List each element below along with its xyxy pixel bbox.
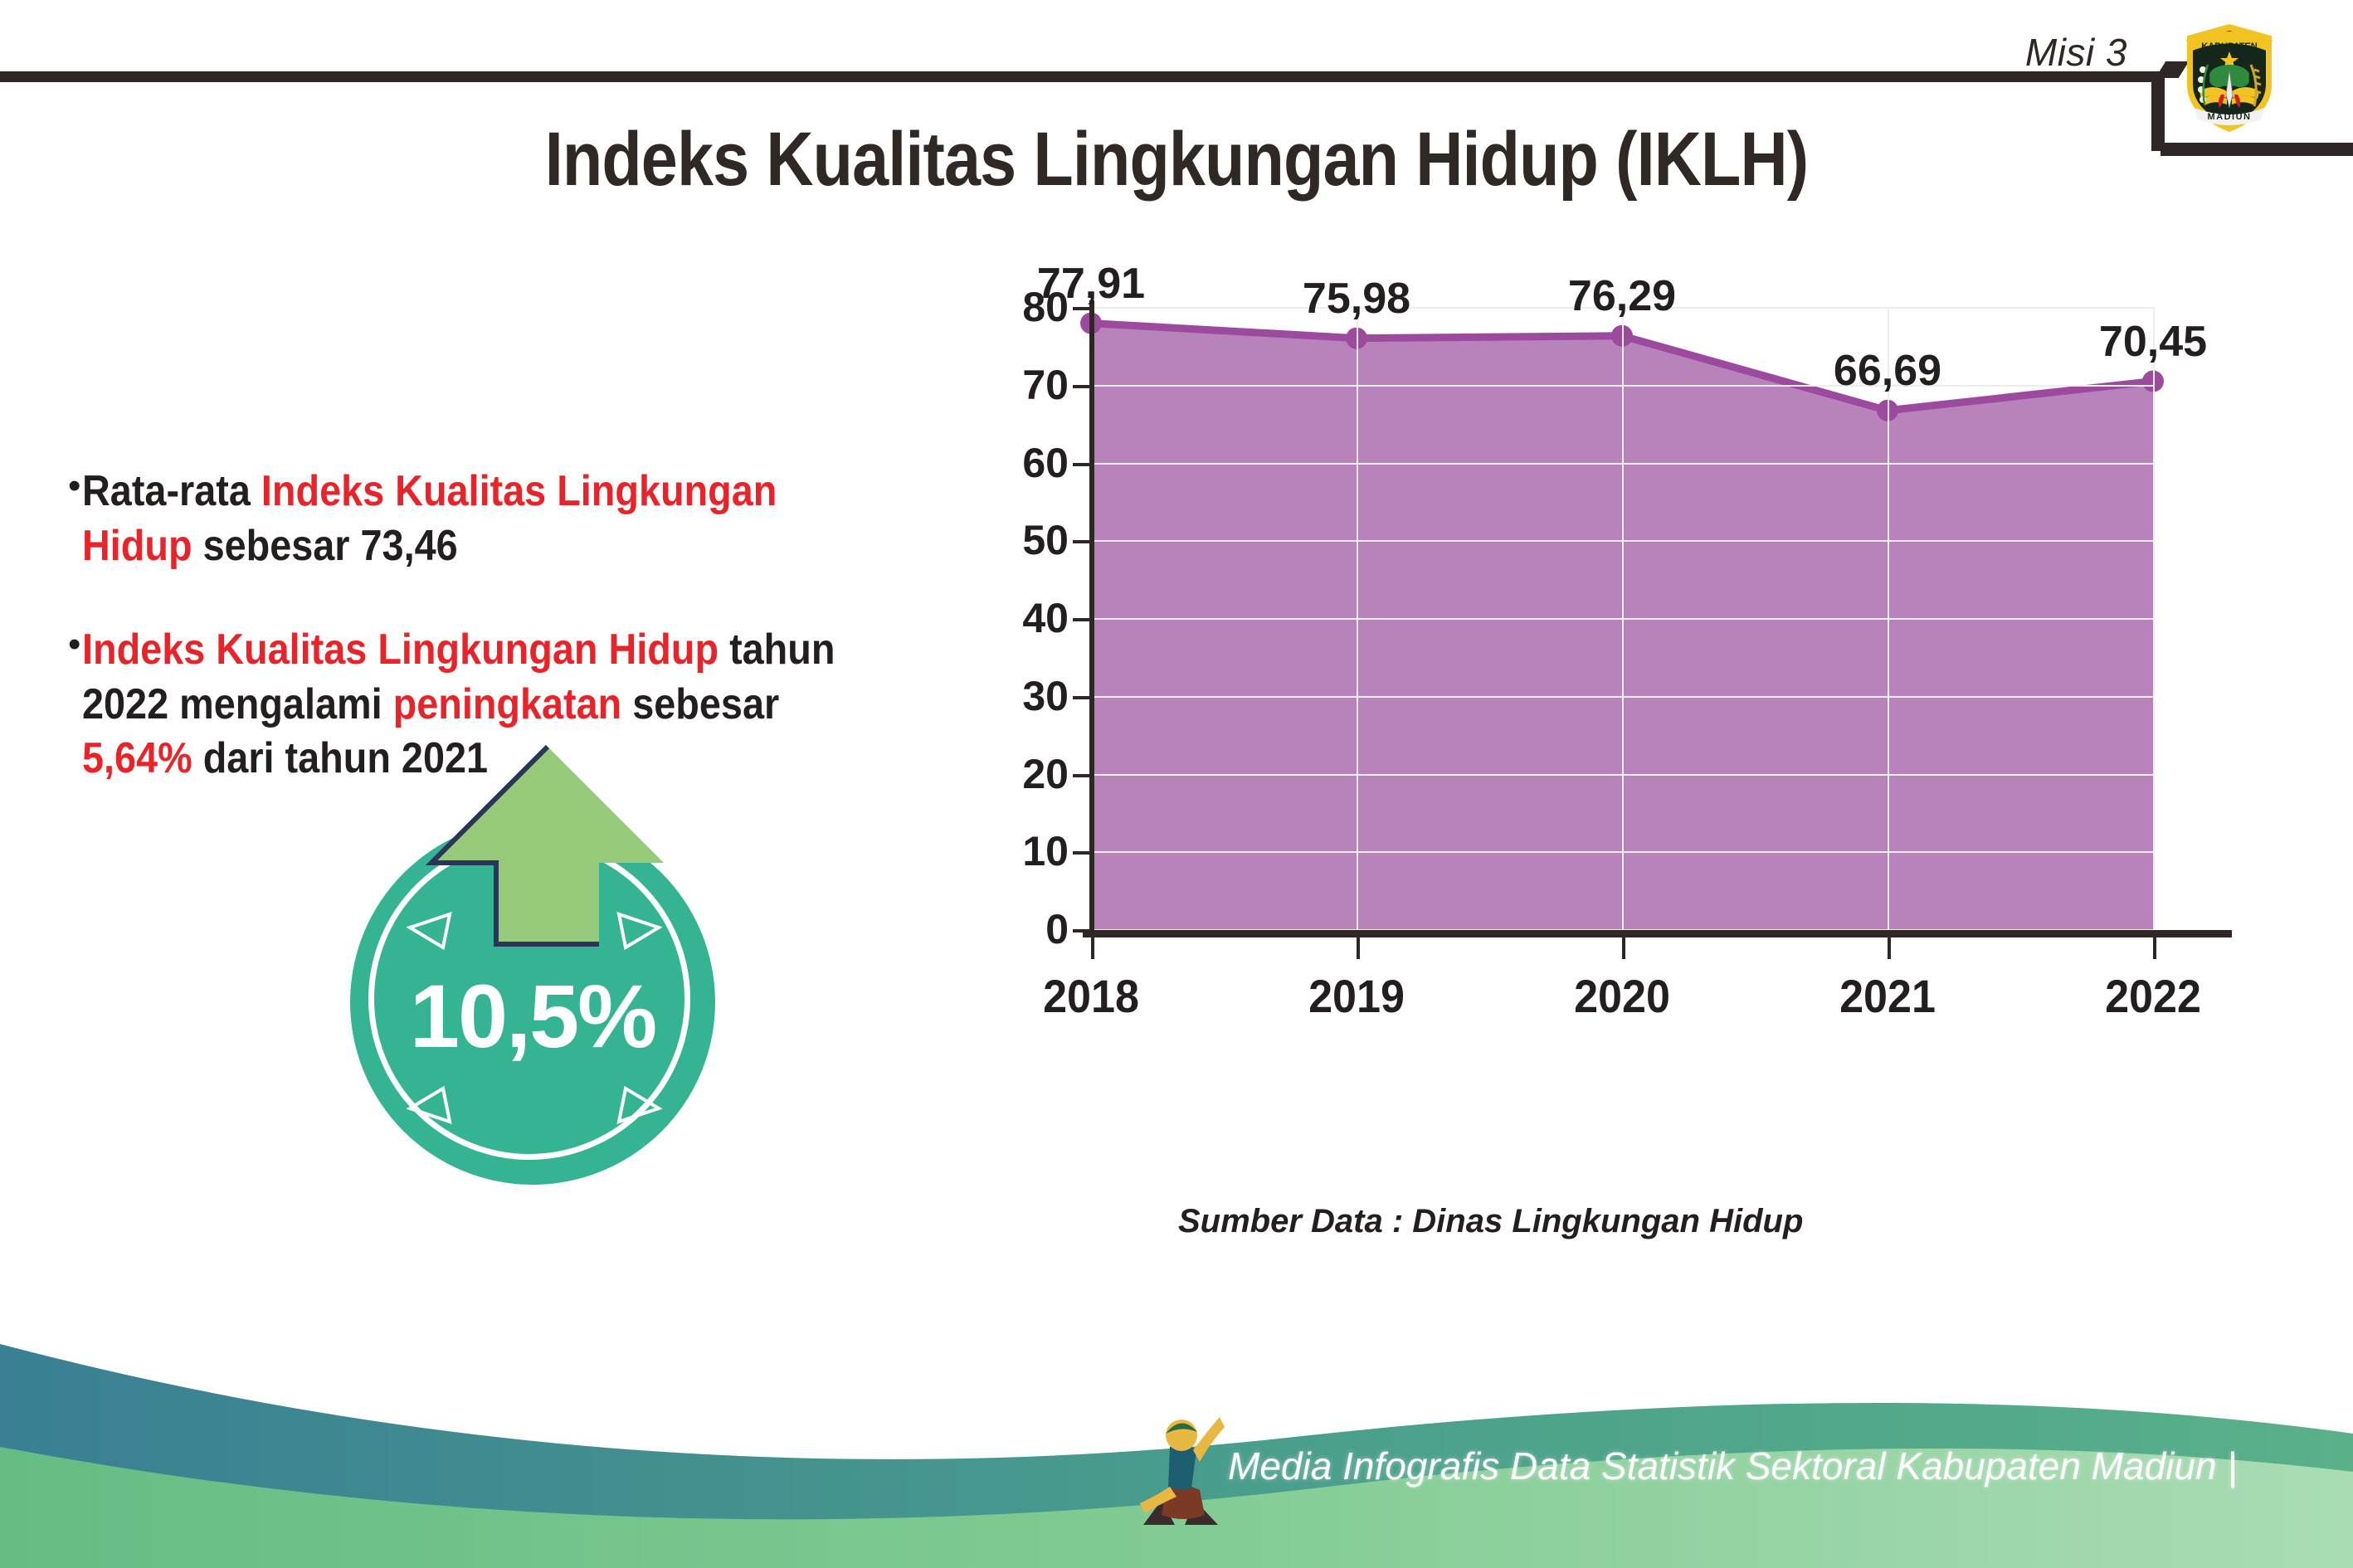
y-tick <box>1073 540 1091 543</box>
gridline-vertical <box>1357 307 1358 929</box>
gridline-vertical <box>1888 307 1889 929</box>
data-label: 66,69 <box>1834 346 1941 396</box>
x-tick-label: 2021 <box>1839 969 1936 1023</box>
kabupaten-madiun-emblem-icon: KABUPATEN MADIUN <box>2175 15 2284 134</box>
bullet-marker: • <box>68 465 80 508</box>
badge-arrow-br-icon <box>616 1085 662 1125</box>
x-tick-label: 2022 <box>2105 969 2201 1023</box>
plain-phrase: sebesar 73,46 <box>192 522 458 570</box>
iklh-area-chart: 01020304050607080 20182019202020212022 7… <box>979 274 2240 1186</box>
gridline-vertical <box>2153 307 2155 929</box>
list-item: • Rata-rata Indeks Kualitas Lingkungan H… <box>68 465 972 573</box>
y-tick-label: 60 <box>979 439 1069 487</box>
page-title: Indeks Kualitas Lingkungan Hidup (IKLH) <box>165 116 2189 203</box>
chart-x-axis <box>1083 930 2232 937</box>
bullet-marker: • <box>68 623 80 666</box>
header-rule <box>0 71 2162 82</box>
up-arrow-icon <box>423 738 672 987</box>
highlighted-phrase: peningkatan <box>393 680 622 728</box>
header-bracket-bottom <box>2161 143 2353 156</box>
y-tick-label: 40 <box>979 594 1069 642</box>
x-tick <box>1091 937 1094 959</box>
misi-label: Misi 3 <box>2025 30 2127 75</box>
y-tick <box>1073 774 1091 777</box>
plain-phrase: Rata-rata <box>82 467 261 515</box>
plain-phrase: sebesar <box>622 680 780 728</box>
badge-value: 10,5% <box>350 964 715 1068</box>
x-tick <box>1622 937 1625 959</box>
x-tick <box>1357 937 1360 959</box>
data-label: 75,98 <box>1303 274 1410 324</box>
data-label: 76,29 <box>1568 271 1676 321</box>
x-tick <box>2153 937 2156 959</box>
y-tick <box>1073 618 1091 621</box>
gridline-vertical <box>1622 307 1624 929</box>
highlighted-phrase: Indeks Kualitas Lingkungan Hidup <box>82 626 719 674</box>
x-tick-label: 2018 <box>1043 969 1139 1023</box>
badge-arrow-bl-icon <box>407 1085 453 1125</box>
highlighted-phrase: 5,64% <box>82 734 192 782</box>
y-tick-label: 20 <box>979 750 1069 798</box>
y-tick <box>1073 851 1091 855</box>
y-tick-label: 50 <box>979 516 1069 564</box>
y-tick <box>1073 463 1091 466</box>
y-tick-label: 30 <box>979 672 1069 720</box>
increase-badge: 10,5% <box>324 738 755 1186</box>
y-tick <box>1073 929 1091 933</box>
y-tick-label: 0 <box>979 905 1069 953</box>
chart-plot-area <box>1091 307 2153 929</box>
y-tick <box>1073 385 1091 388</box>
dancer-logo-icon <box>1137 1410 1230 1528</box>
bullet-text-0: Rata-rata Indeks Kualitas Lingkungan Hid… <box>82 465 883 573</box>
data-label: 70,45 <box>2099 317 2207 367</box>
y-tick <box>1073 696 1091 699</box>
y-tick-label: 70 <box>979 361 1069 409</box>
emblem-bottom-text: MADIUN <box>2208 112 2252 122</box>
y-tick-label: 10 <box>979 827 1069 875</box>
chart-y-axis <box>1089 300 1094 934</box>
x-tick-label: 2019 <box>1308 969 1405 1023</box>
data-label: 77,91 <box>1037 259 1145 309</box>
source-note: Sumber Data : Dinas Lingkungan Hidup <box>1178 1203 1803 1240</box>
x-tick <box>1888 937 1891 959</box>
x-tick-label: 2020 <box>1574 969 1670 1023</box>
footer-text: Media Infografis Data Statistik Sektoral… <box>1228 1444 2237 1488</box>
emblem-top-text: KABUPATEN <box>2201 41 2257 51</box>
